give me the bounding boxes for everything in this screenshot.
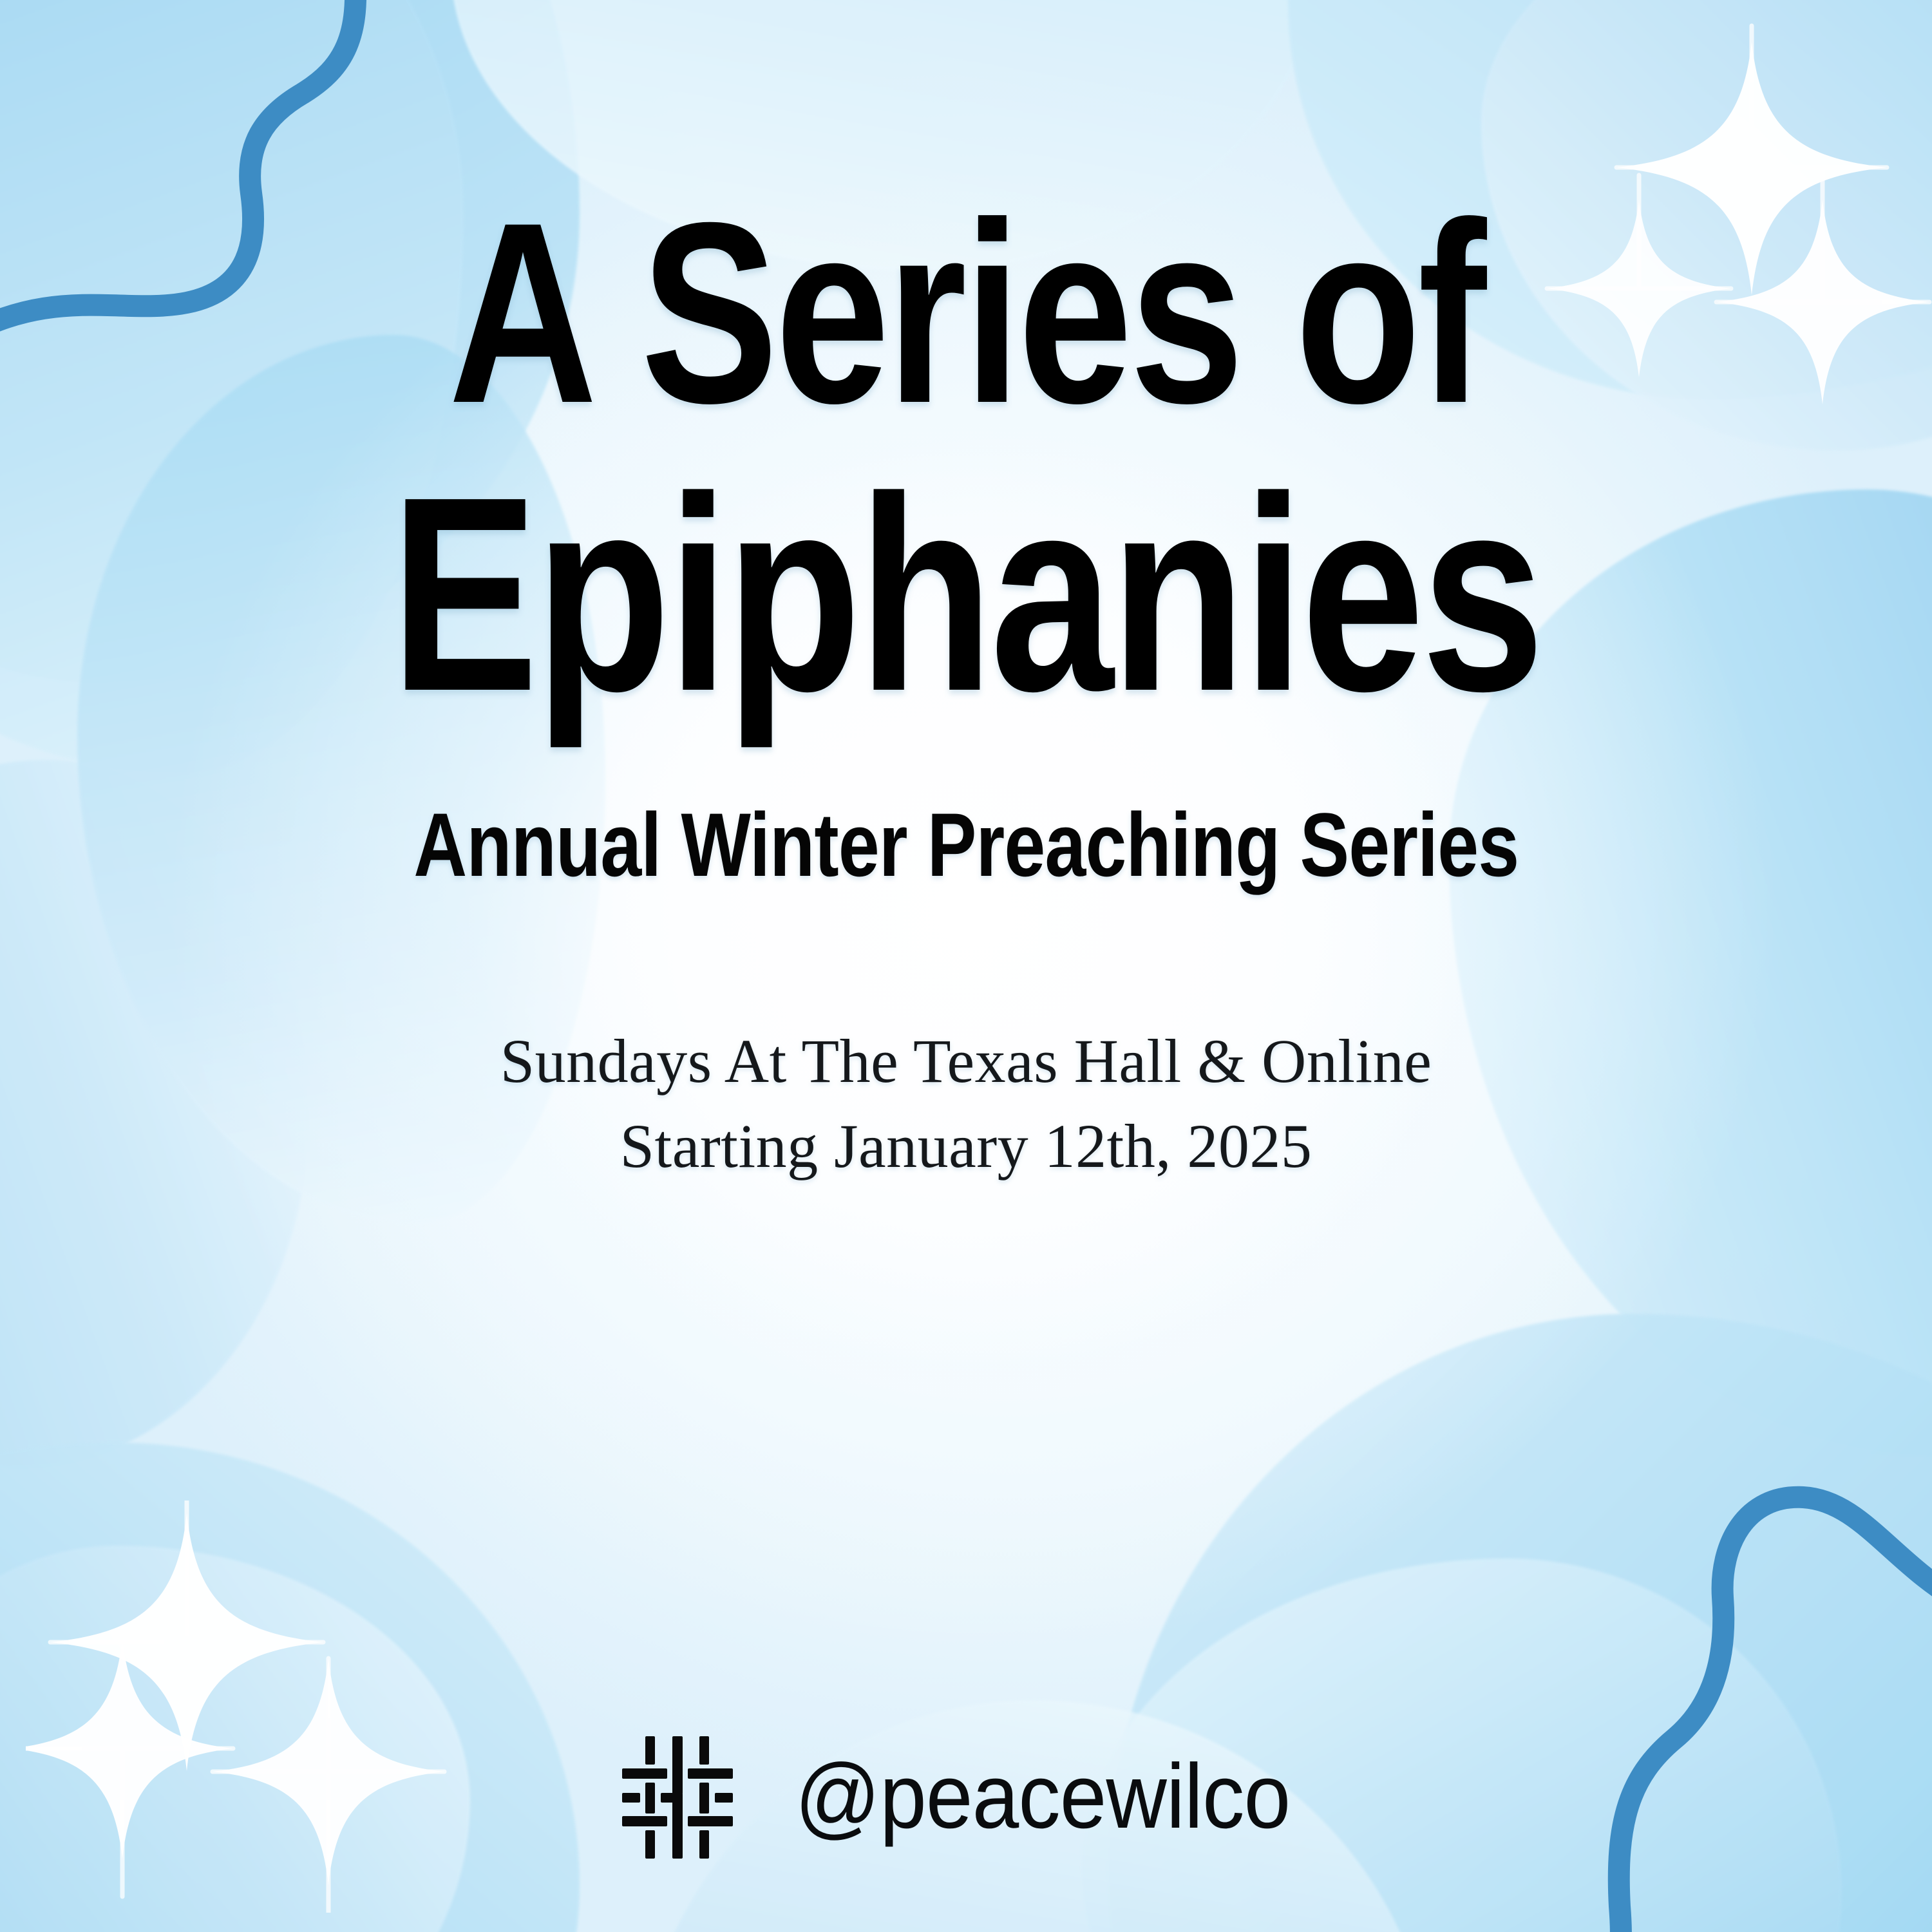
title-line-one: A Series of: [193, 193, 1739, 433]
poster-canvas: A Series of Epiphanies Annual Winter Pre…: [0, 0, 1932, 1932]
woven-lattice-logo-icon: [621, 1732, 734, 1861]
poster-subtitle: Annual Winter Preaching Series: [413, 800, 1519, 890]
details-line-location: Sundays At The Texas Hall & Online: [500, 1019, 1432, 1104]
social-handle-row: @peacewilco: [0, 1732, 1932, 1861]
social-handle-text: @peacewilco: [795, 1751, 1290, 1842]
title-line-two: Epiphanies: [193, 466, 1739, 724]
details-line-date: Starting January 12th, 2025: [500, 1104, 1432, 1189]
poster-details: Sundays At The Texas Hall & Online Start…: [500, 1019, 1432, 1189]
poster-content: A Series of Epiphanies Annual Winter Pre…: [0, 0, 1932, 1932]
poster-title: A Series of Epiphanies: [0, 193, 1932, 724]
